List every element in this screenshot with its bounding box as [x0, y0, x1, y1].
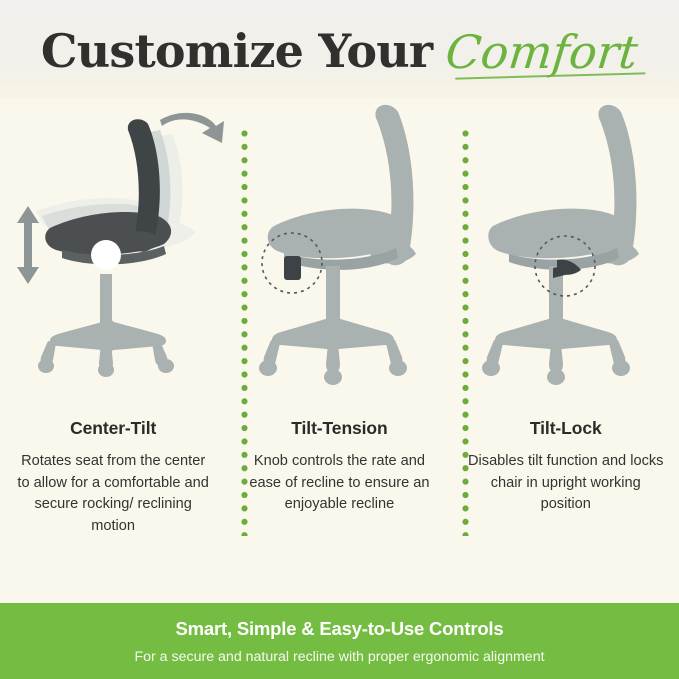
column-divider-right	[462, 130, 469, 536]
infographic-page: Customize Your Comfort	[0, 0, 679, 679]
feature-heading-center-tilt: Center-Tilt	[70, 418, 156, 439]
footer-banner: Smart, Simple & Easy-to-Use Controls For…	[0, 603, 679, 679]
feature-heading-tilt-tension: Tilt-Tension	[291, 418, 387, 439]
feature-body-center-tilt: Rotates seat from the center to allow fo…	[15, 451, 211, 537]
column-divider-left	[241, 130, 248, 536]
feature-column-tilt-tension: Tilt-Tension Knob controls the rate and …	[226, 98, 452, 603]
chair-center-tilt-icon	[0, 98, 226, 398]
feature-heading-tilt-lock: Tilt-Lock	[530, 418, 602, 439]
feature-column-center-tilt: Center-Tilt Rotates seat from the center…	[0, 98, 226, 603]
chair-tilt-lock-icon	[453, 98, 679, 398]
feature-column-tilt-lock: Tilt-Lock Disables tilt function and loc…	[453, 98, 679, 603]
vertical-double-arrow-icon	[17, 206, 39, 284]
feature-columns: Center-Tilt Rotates seat from the center…	[0, 98, 679, 603]
footer-title: Smart, Simple & Easy-to-Use Controls	[176, 618, 504, 640]
page-title: Customize Your Comfort	[41, 24, 638, 78]
chair-tilt-tension-icon	[226, 98, 452, 398]
page-title-script: Comfort	[443, 25, 640, 79]
pivot-point-icon	[91, 240, 121, 270]
tension-knob-icon	[284, 249, 301, 281]
feature-body-tilt-lock: Disables tilt function and locks chair i…	[468, 451, 664, 516]
feature-body-tilt-tension: Knob controls the rate and ease of recli…	[241, 451, 437, 516]
page-title-main: Customize Your	[41, 24, 432, 78]
header-banner: Customize Your Comfort	[0, 0, 679, 98]
footer-subtitle: For a secure and natural recline with pr…	[134, 649, 544, 665]
